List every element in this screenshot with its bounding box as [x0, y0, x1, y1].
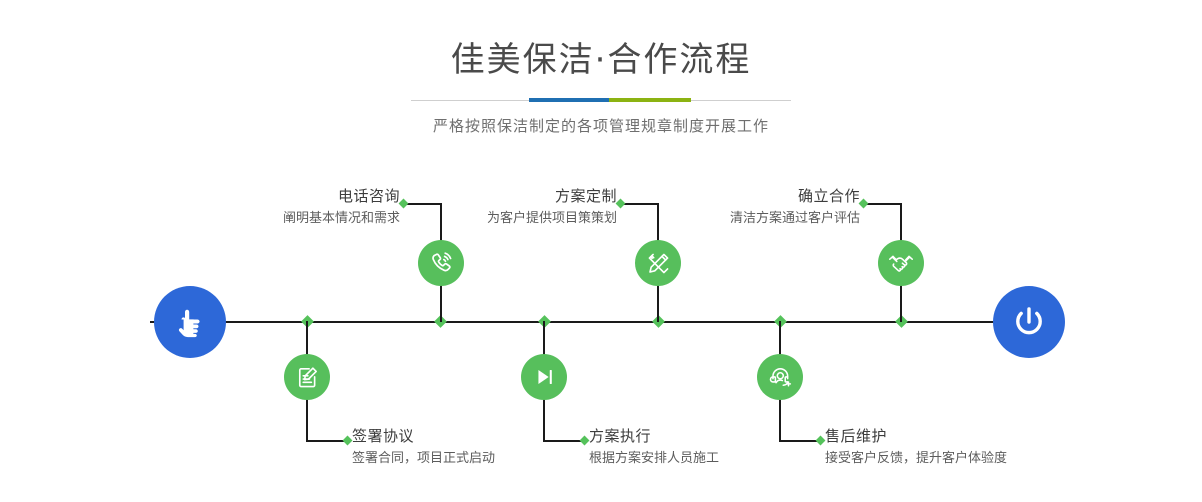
play-skip-icon — [531, 364, 557, 390]
page-title: 佳美保洁·合作流程 — [0, 40, 1202, 80]
timeline-start-endpoint[interactable] — [154, 286, 226, 358]
label-marker-step-5 — [859, 199, 869, 209]
step-node-6[interactable] — [757, 354, 803, 400]
page-subtitle: 严格按照保洁制定的各项管理规章制度开展工作 — [0, 115, 1202, 136]
step-title-1: 电话咨询 — [252, 186, 400, 206]
title-divider — [411, 98, 791, 102]
phone-call-icon — [427, 249, 455, 277]
connector-horizontal-step-6 — [779, 440, 819, 442]
power-icon — [1008, 301, 1050, 343]
step-desc-1: 阐明基本情况和需求 — [252, 209, 400, 228]
timeline-axis — [150, 321, 1052, 323]
divider-green-segment — [609, 98, 691, 102]
label-marker-step-2 — [343, 436, 353, 446]
step-desc-4: 根据方案安排人员施工 — [589, 449, 719, 468]
divider-blue-segment — [529, 98, 609, 102]
label-marker-step-4 — [580, 436, 590, 446]
step-label-1: 电话咨询 阐明基本情况和需求 — [252, 186, 400, 228]
connector-horizontal-step-1 — [404, 203, 442, 205]
connector-horizontal-step-4 — [543, 440, 583, 442]
step-title-6: 售后维护 — [825, 426, 1007, 446]
timeline-end-endpoint[interactable] — [993, 286, 1065, 358]
connector-horizontal-step-2 — [306, 440, 346, 442]
step-label-4: 方案执行 根据方案安排人员施工 — [589, 426, 719, 468]
step-title-3: 方案定制 — [455, 186, 617, 206]
step-title-4: 方案执行 — [589, 426, 719, 446]
document-edit-icon — [294, 364, 321, 391]
step-node-2[interactable] — [284, 354, 330, 400]
handshake-icon — [887, 249, 915, 277]
pointing-hand-icon — [170, 302, 210, 342]
pencil-ruler-icon — [645, 250, 672, 277]
step-title-2: 签署协议 — [352, 426, 495, 446]
step-label-2: 签署协议 签署合同，项目正式启动 — [352, 426, 495, 468]
connector-horizontal-step-5 — [864, 203, 902, 205]
step-label-3: 方案定制 为客户提供项目策策划 — [455, 186, 617, 228]
step-desc-3: 为客户提供项目策策划 — [455, 209, 617, 228]
step-node-5[interactable] — [878, 240, 924, 286]
connector-horizontal-step-3 — [621, 203, 659, 205]
step-node-1[interactable] — [418, 240, 464, 286]
step-node-4[interactable] — [521, 354, 567, 400]
label-marker-step-3 — [616, 199, 626, 209]
step-label-5: 确立合作 清洁方案通过客户评估 — [703, 186, 860, 228]
step-desc-2: 签署合同，项目正式启动 — [352, 449, 495, 468]
step-label-6: 售后维护 接受客户反馈，提升客户体验度 — [825, 426, 1007, 468]
customer-service-add-icon — [767, 364, 794, 391]
step-desc-6: 接受客户反馈，提升客户体验度 — [825, 449, 1007, 468]
header: 佳美保洁·合作流程 严格按照保洁制定的各项管理规章制度开展工作 — [0, 0, 1202, 136]
step-desc-5: 清洁方案通过客户评估 — [703, 209, 860, 228]
process-flow-infographic: 佳美保洁·合作流程 严格按照保洁制定的各项管理规章制度开展工作 — [0, 0, 1202, 502]
step-node-3[interactable] — [635, 240, 681, 286]
step-title-5: 确立合作 — [703, 186, 860, 206]
label-marker-step-1 — [399, 199, 409, 209]
label-marker-step-6 — [816, 436, 826, 446]
